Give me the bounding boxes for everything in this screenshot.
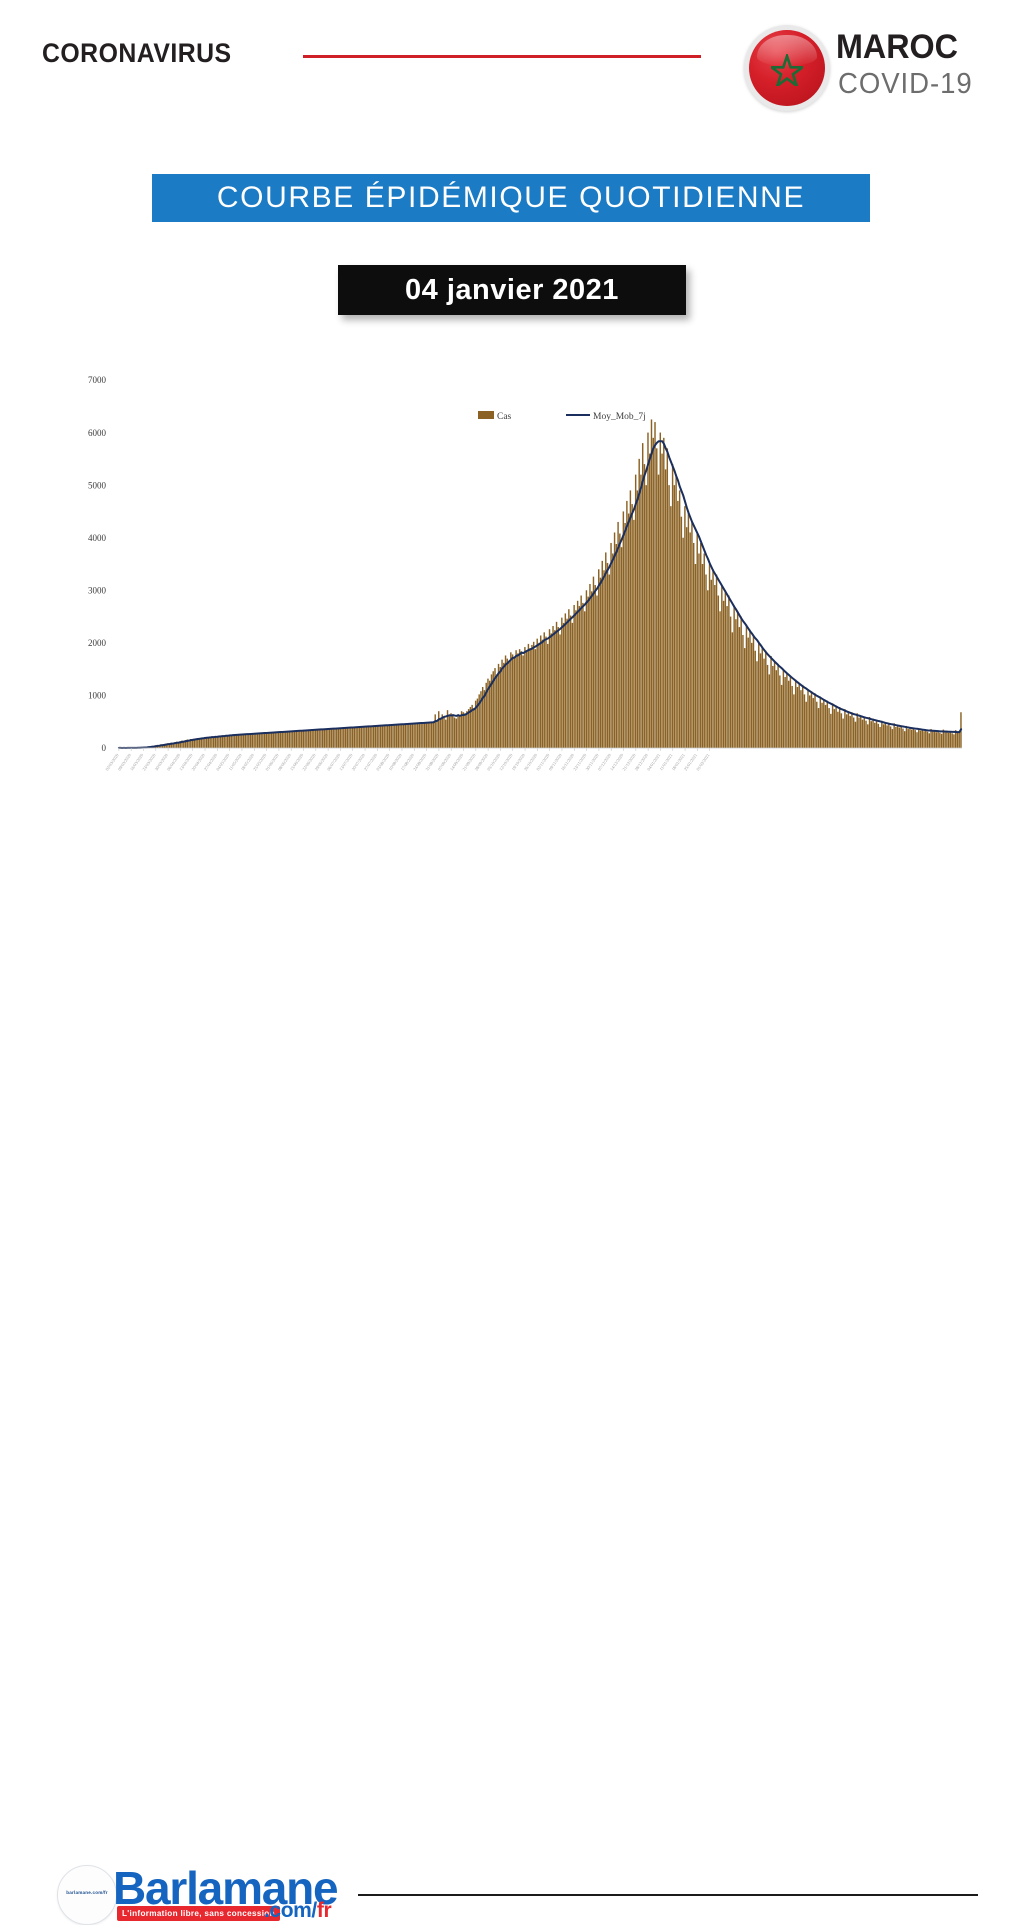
bar [702, 564, 703, 748]
bar [874, 723, 875, 748]
bar [231, 735, 232, 748]
bar [679, 490, 680, 748]
bar [420, 724, 421, 749]
bar [740, 617, 741, 748]
bar [862, 720, 863, 748]
bar [726, 606, 727, 748]
page-header: CORONAVIRUS MAROC COVID-19 [0, 0, 1024, 118]
bar [229, 735, 230, 748]
bar [867, 724, 868, 748]
bar [538, 643, 539, 748]
bar [937, 731, 938, 748]
bar [930, 729, 931, 748]
bar [536, 639, 537, 748]
bar [712, 569, 713, 748]
bar [626, 501, 627, 748]
bar [450, 713, 451, 748]
bar [739, 627, 740, 748]
bar [579, 606, 580, 748]
bar [382, 725, 383, 748]
bar [711, 580, 712, 748]
bar [672, 464, 673, 748]
bar [283, 732, 284, 748]
bar [827, 701, 828, 748]
bar [839, 707, 840, 748]
bar [920, 731, 921, 748]
bar [886, 725, 887, 748]
bar [227, 735, 228, 748]
bar [670, 506, 671, 748]
bar [371, 727, 372, 748]
legend-swatch-cas [478, 411, 494, 419]
bar [589, 584, 590, 748]
bar [338, 728, 339, 748]
bar [224, 736, 225, 748]
bar [361, 726, 362, 748]
bar [243, 734, 244, 748]
bar [904, 731, 905, 748]
bar [459, 715, 460, 748]
bar [547, 644, 548, 748]
bar [325, 729, 326, 748]
bar [438, 711, 439, 748]
bar [257, 733, 258, 748]
bar [907, 729, 908, 748]
bar [454, 718, 455, 748]
bar [767, 665, 768, 748]
bar [449, 716, 450, 748]
bar [435, 714, 436, 748]
bar [804, 694, 805, 748]
bar [456, 719, 457, 748]
bar [266, 732, 267, 748]
epidemic-curve-chart: 01000200030004000500060007000 CasMoy_Mob… [0, 370, 1024, 800]
bar [236, 735, 237, 748]
bar [468, 709, 469, 748]
bar [704, 553, 705, 748]
bar [849, 716, 850, 748]
brand-covid19: COVID-19 [838, 68, 973, 101]
bar [259, 733, 260, 748]
bar [489, 681, 490, 748]
y-axis-tick-label: 5000 [88, 480, 107, 490]
bar [746, 624, 747, 748]
bar [668, 485, 669, 748]
bar [953, 734, 954, 748]
bar [674, 485, 675, 748]
bar [391, 725, 392, 748]
bar [443, 716, 444, 748]
bar [871, 721, 872, 748]
bar [791, 686, 792, 748]
bar [616, 544, 617, 748]
bar [262, 732, 263, 748]
bar [795, 680, 796, 748]
bar [923, 731, 924, 748]
bar [394, 725, 395, 748]
bar [640, 475, 641, 748]
bar [503, 663, 504, 748]
bar [742, 635, 743, 748]
bar [677, 501, 678, 748]
bar [893, 723, 894, 748]
bar [665, 469, 666, 748]
bar [844, 709, 845, 748]
bar [424, 723, 425, 748]
bar [558, 627, 559, 748]
bar [609, 575, 610, 748]
bars-series-cas [118, 419, 962, 748]
bar [303, 730, 304, 748]
bar [545, 637, 546, 748]
bar [253, 733, 254, 748]
bar [714, 585, 715, 748]
bar [698, 553, 699, 748]
bar [417, 723, 418, 749]
bar [735, 619, 736, 748]
bar [818, 708, 819, 748]
bar [345, 728, 346, 748]
bar [948, 733, 949, 748]
bar [841, 713, 842, 748]
bar [869, 717, 870, 748]
bar [213, 737, 214, 748]
bar [718, 596, 719, 748]
bar [255, 733, 256, 748]
date-badge-text: 04 janvier 2021 [338, 265, 686, 315]
bar [498, 664, 499, 748]
date-badge: 04 janvier 2021 [338, 265, 686, 315]
bar [561, 618, 562, 748]
pentagram-star-icon [771, 54, 803, 86]
bar [514, 658, 515, 748]
bar [510, 652, 511, 748]
bar [225, 735, 226, 748]
bar [392, 724, 393, 748]
bar [909, 727, 910, 748]
bar [399, 724, 400, 748]
bar [784, 677, 785, 748]
bar [355, 726, 356, 748]
bar [577, 601, 578, 748]
bar [329, 729, 330, 748]
footer-divider-rule [358, 1894, 978, 1896]
bar [232, 734, 233, 748]
bar [895, 727, 896, 748]
bar [387, 725, 388, 748]
bar [591, 591, 592, 748]
bar [913, 728, 914, 749]
bar [756, 661, 757, 748]
bar [362, 727, 363, 748]
bar [410, 723, 411, 748]
bar [333, 728, 334, 748]
bar [842, 719, 843, 748]
bar [649, 454, 650, 748]
bar [915, 730, 916, 748]
bar [885, 722, 886, 748]
bar [505, 655, 506, 748]
bar [858, 718, 859, 748]
bar [776, 670, 777, 748]
bar [820, 696, 821, 748]
bar [598, 569, 599, 748]
bar [389, 724, 390, 748]
bar [334, 729, 335, 748]
bar [864, 716, 865, 748]
bar [431, 722, 432, 748]
bar [248, 735, 249, 748]
bar [464, 713, 465, 748]
chart-svg: 01000200030004000500060007000 CasMoy_Mob… [0, 370, 1024, 800]
bar [500, 667, 501, 748]
bar [327, 728, 328, 748]
bar [753, 635, 754, 748]
bar [865, 721, 866, 748]
bar [958, 731, 959, 748]
bar [274, 732, 275, 748]
bar [788, 681, 789, 748]
bar [517, 653, 518, 748]
bar [605, 552, 606, 748]
bar [289, 731, 290, 748]
bar [354, 727, 355, 748]
bar [596, 596, 597, 748]
bar [368, 726, 369, 748]
bar [793, 694, 794, 748]
bar [737, 611, 738, 748]
bar [944, 732, 945, 748]
bar [846, 714, 847, 748]
bar [828, 708, 829, 748]
bar [519, 649, 520, 748]
bar [529, 648, 530, 748]
bar [364, 726, 365, 748]
bar [797, 687, 798, 748]
bar [568, 609, 569, 748]
bar [582, 603, 583, 748]
bar [763, 659, 764, 748]
bar [466, 711, 467, 748]
bar [691, 522, 692, 748]
bar [540, 636, 541, 749]
bar [816, 702, 817, 748]
bar [401, 724, 402, 748]
bar [587, 597, 588, 748]
bar [860, 715, 861, 748]
bar [762, 648, 763, 748]
bar [922, 729, 923, 748]
chart-legend: CasMoy_Mob_7j [478, 411, 646, 422]
bar [950, 731, 951, 748]
page-footer: barlamane.com/fr Barlamane L'information… [0, 925, 1024, 1024]
bar [890, 726, 891, 748]
bar [883, 724, 884, 748]
bar [651, 419, 652, 748]
bar [951, 733, 952, 748]
bar [280, 732, 281, 748]
bar [304, 730, 305, 748]
bar [566, 619, 567, 748]
bar [783, 669, 784, 748]
bar [405, 723, 406, 748]
bar [549, 629, 550, 748]
bar [252, 734, 253, 748]
bar [297, 731, 298, 748]
bar [350, 727, 351, 748]
bar [772, 666, 773, 748]
bar [617, 522, 618, 748]
bar [348, 727, 349, 748]
bar [246, 734, 247, 748]
bar [296, 731, 297, 748]
y-axis-tick-label: 3000 [88, 585, 107, 595]
bar [524, 647, 525, 748]
bar [442, 714, 443, 748]
bar [315, 729, 316, 748]
bar [290, 731, 291, 748]
bar [723, 601, 724, 748]
bar [375, 726, 376, 748]
bar [653, 438, 654, 748]
bar [535, 649, 536, 748]
bar [220, 736, 221, 748]
bar [273, 733, 274, 748]
bar [623, 511, 624, 748]
bar [897, 725, 898, 748]
bar [689, 532, 690, 748]
y-axis-tick-label: 7000 [88, 375, 107, 385]
bar [380, 725, 381, 748]
bar [324, 729, 325, 748]
bar [925, 730, 926, 748]
banner-title: COURBE ÉPIDÉMIQUE QUOTIDIENNE [152, 174, 870, 222]
bar [675, 475, 676, 748]
bar [610, 543, 611, 748]
y-axis: 01000200030004000500060007000 [88, 375, 107, 753]
bar [957, 732, 958, 748]
bar [628, 514, 629, 748]
bar [800, 690, 801, 748]
bar [551, 633, 552, 748]
bar [881, 721, 882, 748]
bar [544, 632, 545, 748]
bar [313, 730, 314, 748]
bar [825, 705, 826, 748]
bar [830, 714, 831, 748]
bar [241, 734, 242, 748]
domain-com: .com/ [264, 1899, 317, 1922]
bar [301, 731, 302, 748]
bar [835, 706, 836, 748]
bar [311, 729, 312, 748]
bar [556, 622, 557, 748]
y-axis-tick-label: 6000 [88, 428, 107, 438]
bar [522, 655, 523, 748]
bar [234, 735, 235, 748]
bar [533, 642, 534, 748]
bar [646, 485, 647, 748]
x-axis: 02/03/202009/03/202016/03/202023/03/2020… [104, 748, 710, 772]
banner-title-text: COURBE ÉPIDÉMIQUE QUOTIDIENNE [152, 174, 870, 222]
legend-label: Cas [497, 412, 512, 422]
bar [310, 730, 311, 748]
bar [531, 645, 532, 748]
bar [501, 660, 502, 748]
bar [834, 709, 835, 748]
bar [695, 564, 696, 748]
bar [473, 708, 474, 748]
bar [563, 623, 564, 748]
bar [595, 585, 596, 748]
bar [700, 543, 701, 748]
morocco-flag-icon [744, 25, 830, 111]
bar [575, 610, 576, 748]
bar [496, 674, 497, 748]
bar [821, 703, 822, 748]
bar [851, 712, 852, 748]
bar [357, 727, 358, 748]
bar [934, 730, 935, 748]
bar [552, 626, 553, 748]
bar [774, 661, 775, 748]
bar [813, 698, 814, 748]
bar [457, 714, 458, 748]
bar [554, 630, 555, 748]
bar [642, 443, 643, 748]
bar [250, 733, 251, 748]
bar [758, 643, 759, 748]
bar [521, 651, 522, 748]
bar [755, 651, 756, 748]
bar [565, 613, 566, 748]
bar [602, 561, 603, 748]
bar [855, 722, 856, 748]
bar [306, 730, 307, 748]
bar [633, 520, 634, 748]
bar [436, 721, 437, 748]
bar [872, 719, 873, 748]
bar [412, 723, 413, 748]
bar [336, 728, 337, 748]
bar [654, 422, 655, 748]
bar [823, 699, 824, 748]
bar [292, 731, 293, 748]
bar [725, 590, 726, 748]
bar [621, 547, 622, 748]
bar [282, 731, 283, 748]
bar [732, 632, 733, 748]
bar [747, 638, 748, 748]
bar [406, 724, 407, 748]
bar [941, 734, 942, 748]
bar [686, 527, 687, 748]
bar [385, 725, 386, 748]
bar [770, 656, 771, 748]
bar [526, 650, 527, 748]
bar [802, 685, 803, 748]
bar [709, 564, 710, 748]
bar [814, 693, 815, 748]
bar [285, 732, 286, 748]
bar [559, 634, 560, 748]
bar [667, 448, 668, 748]
bar [378, 726, 379, 748]
bar [347, 728, 348, 748]
bar [656, 448, 657, 748]
bar [733, 606, 734, 748]
bar [660, 433, 661, 748]
